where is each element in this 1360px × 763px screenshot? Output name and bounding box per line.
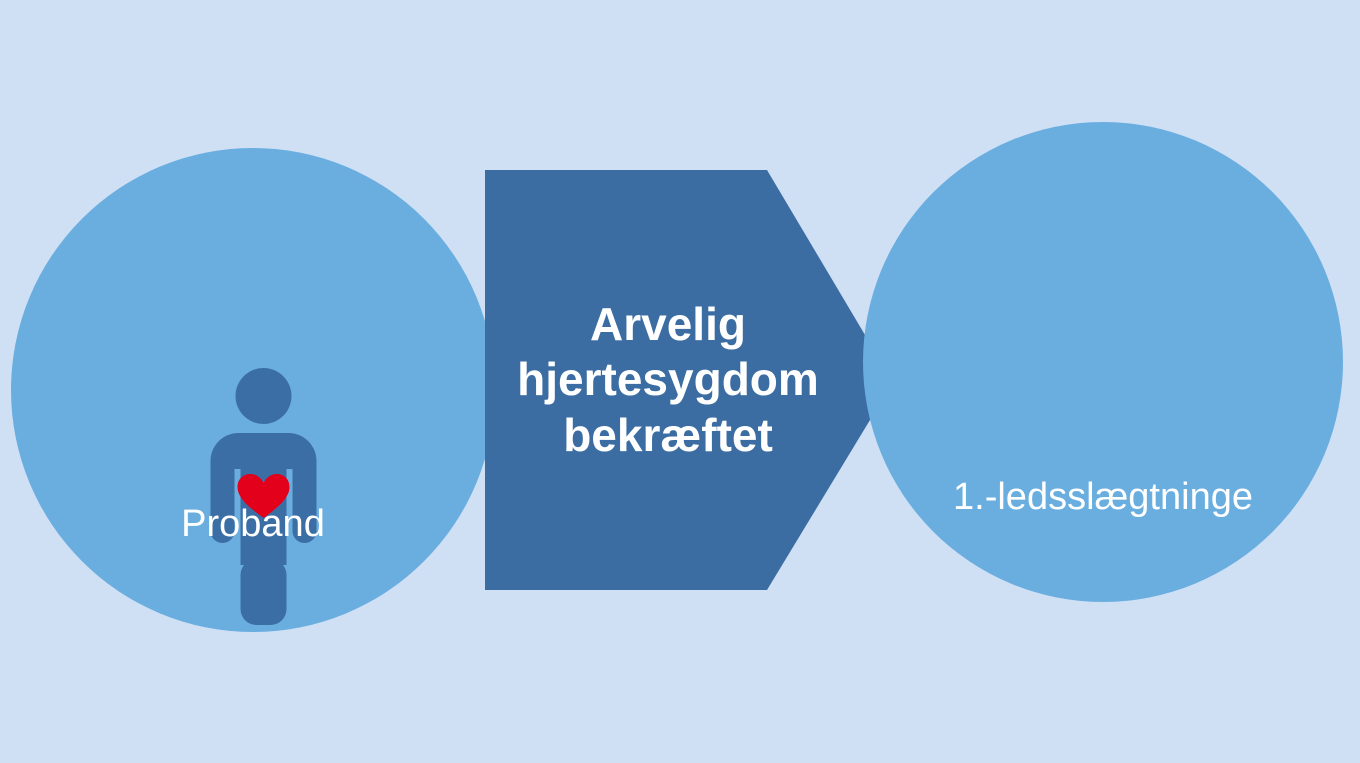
- proband-label: Proband: [11, 505, 495, 543]
- arrow-banner[interactable]: Arvelig hjertesygdom bekræftet: [485, 170, 893, 590]
- arrow-label-line-2: hjertesygdom: [517, 352, 819, 407]
- arrow-label-line-1: Arvelig: [590, 297, 746, 352]
- arrow-label: Arvelig hjertesygdom bekræftet: [485, 170, 851, 590]
- proband-node[interactable]: Proband: [11, 148, 495, 632]
- relatives-node[interactable]: 1.-ledsslægtninge: [863, 122, 1343, 602]
- person-with-heart-icon: [196, 363, 331, 628]
- slide-canvas: Proband Arvelig hjertesygdom bekræftet: [0, 0, 1360, 763]
- arrow-label-line-3: bekræftet: [563, 408, 773, 463]
- relatives-label: 1.-ledsslægtninge: [863, 478, 1343, 516]
